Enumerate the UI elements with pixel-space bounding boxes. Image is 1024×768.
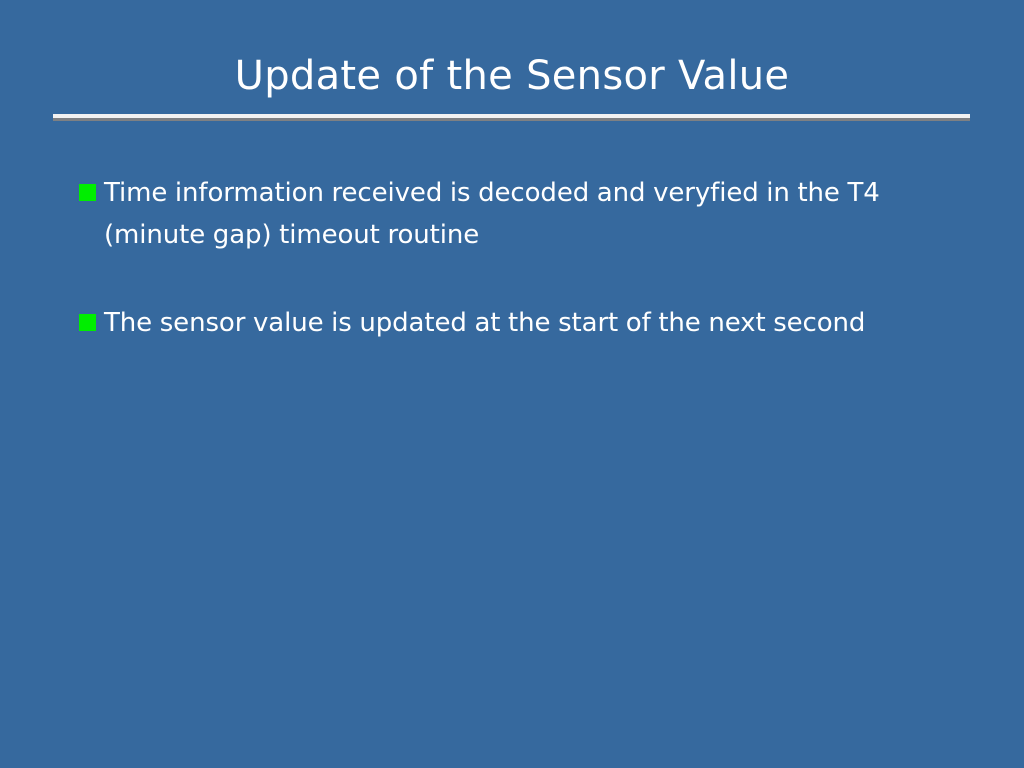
slide-body: Time information received is decoded and… [75,172,955,344]
slide-canvas: Update of the Sensor Value Time informat… [0,0,1024,768]
bullet-text: Time information received is decoded and… [104,172,955,256]
list-item: Time information received is decoded and… [75,172,955,256]
slide-title-block: Update of the Sensor Value [0,52,1024,100]
square-bullet-icon [79,314,96,331]
title-divider-shadow [53,118,970,121]
title-divider [53,114,970,121]
page-title: Update of the Sensor Value [0,52,1024,100]
list-item: The sensor value is updated at the start… [75,302,955,344]
square-bullet-icon [79,184,96,201]
bullet-text: The sensor value is updated at the start… [104,302,955,344]
